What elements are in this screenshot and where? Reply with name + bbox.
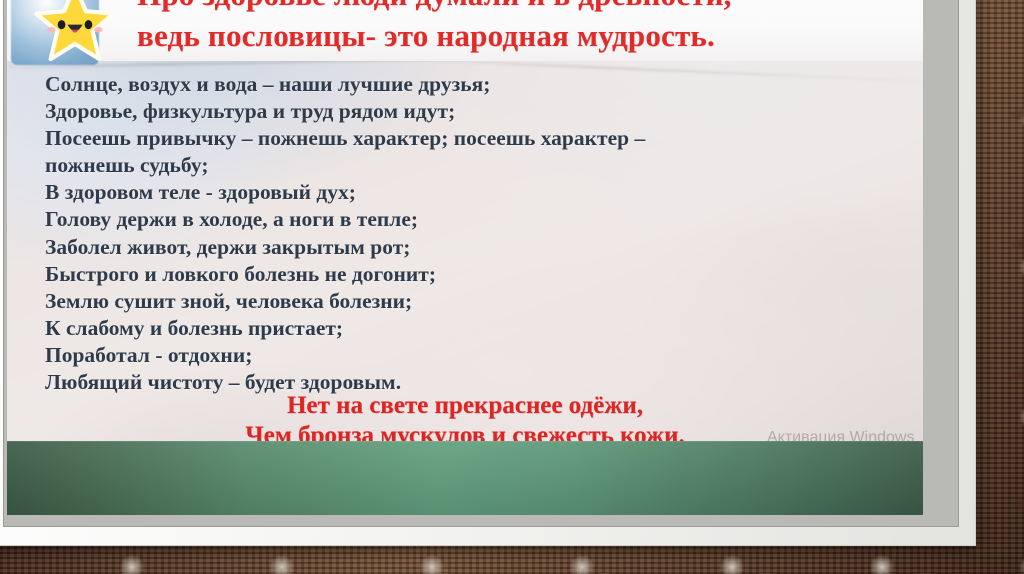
proverb-item: Быстрого и ловкого болезнь не догонит; [45, 261, 899, 288]
proverbs-list: Солнце, воздух и вода – наши лучшие друз… [45, 71, 899, 396]
couplet-line-1: Нет на свете прекраснее одёжи, [7, 391, 923, 421]
footer-green-band [7, 441, 923, 515]
proverb-item: В здоровом теле - здоровый дух; [45, 179, 899, 206]
presentation-slide: Про здоровье люди думали и в древности, … [7, 0, 923, 515]
title-line-1: Про здоровье люди думали и в древности, [137, 0, 915, 15]
proverb-item: Голову держи в холоде, а ноги в тепле; [45, 206, 899, 233]
proverb-item: К слабому и болезнь пристает; [45, 315, 899, 342]
page-title: Про здоровье люди думали и в древности, … [137, 0, 915, 56]
title-line-2: ведь пословицы- это народная мудрость. [137, 15, 915, 56]
picture-frame: Про здоровье люди думали и в древности, … [0, 0, 976, 546]
proverb-item-continuation: пожнешь судьбу; [45, 152, 899, 179]
proverb-item: Заболел живот, держи закрытым рот; [45, 234, 899, 261]
smiling-star-icon [33, 0, 117, 65]
proverb-item: Землю сушит зной, человека болезни; [45, 288, 899, 315]
proverb-item: Поработал - отдохни; [45, 342, 899, 369]
proverb-item: Солнце, воздух и вода – наши лучшие друз… [45, 71, 899, 98]
proverb-item: Посеешь привычку – пожнешь характер; пос… [45, 125, 899, 152]
proverb-item: Здоровье, физкультура и труд рядом идут; [45, 98, 899, 125]
slide-title-band: Про здоровье люди думали и в древности, … [7, 0, 923, 61]
